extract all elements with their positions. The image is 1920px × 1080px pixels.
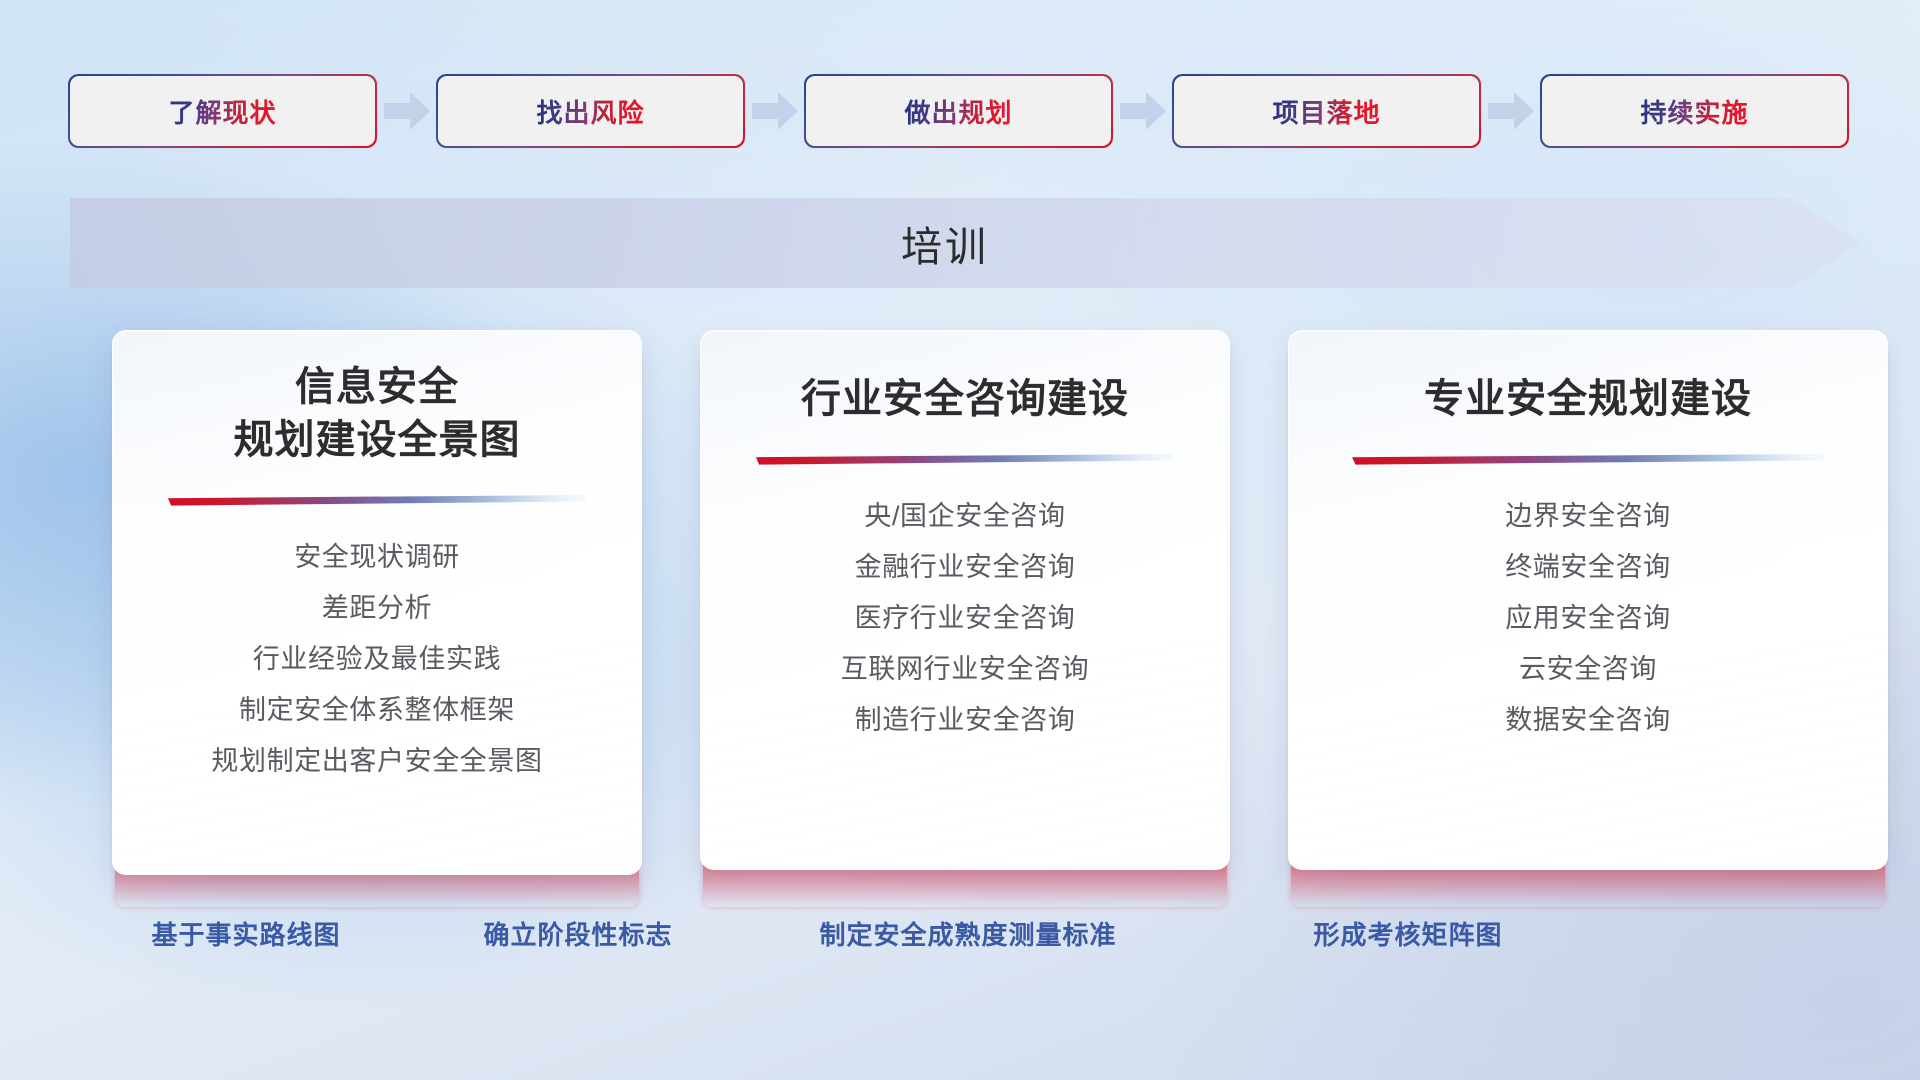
step-connector-2 <box>743 91 806 131</box>
arrow-right-icon <box>384 91 430 131</box>
step-label: 项目落地 <box>1272 93 1380 130</box>
step-box-3[interactable]: 做出规划 <box>806 76 1111 146</box>
list-item: 制定安全体系整体框架 <box>239 685 515 736</box>
step-connector-3 <box>1111 91 1174 131</box>
gradient-divider-icon <box>168 495 585 506</box>
gradient-divider-icon <box>1352 454 1824 465</box>
band-title: 培训 <box>70 213 1860 273</box>
slide-canvas: 了解现状 找出风险 做出规划 项目落地 <box>0 0 1920 1080</box>
card-slot-2: 行业安全咨询建设 <box>700 330 1230 875</box>
card-slot-1: 信息安全 规划建设全景图 <box>112 330 642 875</box>
step-box-4[interactable]: 项目落地 <box>1174 76 1479 146</box>
step-label: 找出风险 <box>536 93 644 130</box>
list-item: 云安全咨询 <box>1519 644 1657 695</box>
footer-label-1: 基于事实路线图 <box>151 915 340 952</box>
list-item: 医疗行业安全咨询 <box>855 593 1076 644</box>
card-title-line-1: 信息安全 <box>234 361 521 414</box>
card-row: 信息安全 规划建设全景图 <box>0 330 1920 875</box>
list-item: 终端安全咨询 <box>1505 542 1671 593</box>
list-item: 规划制定出客户安全全景图 <box>211 736 542 787</box>
card-title-line-2: 规划建设全景图 <box>234 414 521 467</box>
list-item: 边界安全咨询 <box>1505 491 1671 542</box>
process-step-strip: 了解现状 找出风险 做出规划 项目落地 <box>70 76 1850 146</box>
footer-label-row: 基于事实路线图 确立阶段性标志 制定安全成熟度测量标准 形成考核矩阵图 <box>0 915 1920 963</box>
arrow-right-icon <box>1488 91 1534 131</box>
card-title: 专业安全规划建设 <box>1402 373 1774 426</box>
card-item-list: 安全现状调研 差距分析 行业经验及最佳实践 制定安全体系整体框架 规划制定出客户… <box>113 532 641 787</box>
card-slot-3: 专业安全规划建设 <box>1288 330 1888 875</box>
gradient-divider-icon <box>756 454 1173 465</box>
list-item: 数据安全咨询 <box>1505 695 1671 746</box>
step-connector-1 <box>375 91 438 131</box>
arrow-right-icon <box>752 91 798 131</box>
card-professional-security-planning[interactable]: 专业安全规划建设 <box>1288 330 1888 870</box>
footer-label-2: 确立阶段性标志 <box>483 915 672 952</box>
step-connector-4 <box>1479 91 1542 131</box>
list-item: 金融行业安全咨询 <box>855 542 1076 593</box>
list-item: 央/国企安全咨询 <box>864 491 1065 542</box>
card-item-list: 边界安全咨询 终端安全咨询 应用安全咨询 云安全咨询 数据安全咨询 <box>1289 491 1887 746</box>
card-item-list: 央/国企安全咨询 金融行业安全咨询 医疗行业安全咨询 互联网行业安全咨询 制造行… <box>701 491 1229 746</box>
arrow-right-icon <box>1120 91 1166 131</box>
list-item: 差距分析 <box>322 583 432 634</box>
list-item: 应用安全咨询 <box>1505 593 1671 644</box>
list-item: 安全现状调研 <box>294 532 460 583</box>
training-band: 培训 <box>70 198 1860 288</box>
footer-label-4: 形成考核矩阵图 <box>1313 915 1502 952</box>
list-item: 互联网行业安全咨询 <box>841 644 1089 695</box>
step-label: 了解现状 <box>168 93 276 130</box>
card-industry-security-consulting[interactable]: 行业安全咨询建设 <box>700 330 1230 870</box>
step-label: 做出规划 <box>904 93 1012 130</box>
step-label: 持续实施 <box>1640 93 1748 130</box>
list-item: 行业经验及最佳实践 <box>253 634 501 685</box>
card-title-line-1: 专业安全规划建设 <box>1424 373 1752 426</box>
card-title-line-1: 行业安全咨询建设 <box>801 373 1129 426</box>
card-title: 行业安全咨询建设 <box>779 373 1151 426</box>
footer-label-3: 制定安全成熟度测量标准 <box>819 915 1116 952</box>
card-title: 信息安全 规划建设全景图 <box>212 361 543 467</box>
list-item: 制造行业安全咨询 <box>855 695 1076 746</box>
step-box-5[interactable]: 持续实施 <box>1542 76 1847 146</box>
step-box-2[interactable]: 找出风险 <box>438 76 743 146</box>
card-information-security-blueprint[interactable]: 信息安全 规划建设全景图 <box>112 330 642 875</box>
step-box-1[interactable]: 了解现状 <box>70 76 375 146</box>
